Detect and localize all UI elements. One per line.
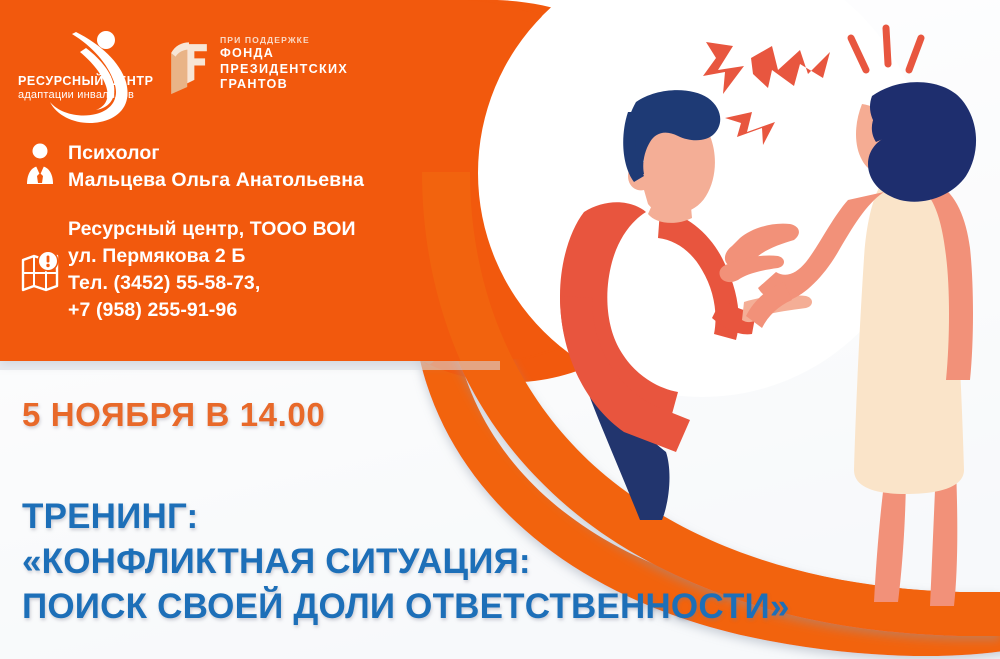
event-title-line2: «КОНФЛИКТНАЯ СИТУАЦИЯ: (22, 539, 790, 584)
psychologist-row: Психолог Мальцева Ольга Анатольевна (20, 140, 490, 194)
man-neck (648, 196, 692, 223)
event-title: ТРЕНИНГ: «КОНФЛИКТНАЯ СИТУАЦИЯ: ПОИСК СВ… (22, 494, 790, 629)
info-panel: РЕСУРСНЫЙ ЦЕНТР адаптации инвалидов ПРИ … (0, 0, 500, 362)
pgf-mark (164, 38, 214, 102)
location-row: Ресурсный центр, ТООО ВОИ ул. Пермякова … (20, 216, 490, 324)
location-line2: ул. Пермякова 2 Б (68, 243, 490, 270)
lightning-bolt-icon (703, 42, 830, 145)
pgf-line1: ФОНДА (220, 46, 348, 62)
psychologist-name: Мальцева Ольга Анатольевна (68, 167, 490, 194)
map-pin-icon (20, 248, 60, 292)
psychologist-role: Психолог (68, 140, 490, 167)
contact-info: Психолог Мальцева Ольга Анатольевна (20, 140, 490, 324)
rc-dot (97, 31, 115, 49)
pgf-line2: ПРЕЗИДЕНТСКИХ (220, 62, 348, 78)
anger-rays-icon (851, 28, 921, 70)
event-date: 5 НОЯБРЯ В 14.00 (22, 396, 325, 434)
rc-logo-line1: РЕСУРСНЫЙ ЦЕНТР (18, 74, 134, 88)
location-line1: Ресурсный центр, ТООО ВОИ (68, 216, 490, 243)
poster-root: РЕСУРСНЫЙ ЦЕНТР адаптации инвалидов ПРИ … (0, 0, 1000, 659)
woman-hair (868, 82, 976, 202)
pgf-line3: ГРАНТОВ (220, 77, 348, 93)
pgf-line0: ПРИ ПОДДЕРЖКЕ (220, 35, 348, 46)
pgf-shape-right (187, 44, 207, 83)
location-lines: Ресурсный центр, ТООО ВОИ ул. Пермякова … (68, 216, 490, 324)
location-line4: +7 (958) 255-91-96 (68, 297, 490, 324)
pgf-logo-text: ПРИ ПОДДЕРЖКЕ ФОНДА ПРЕЗИДЕНТСКИХ ГРАНТО… (220, 35, 348, 93)
logos-row: РЕСУРСНЫЙ ЦЕНТР адаптации инвалидов ПРИ … (14, 22, 484, 130)
person-tie-icon (20, 142, 60, 186)
psychologist-lines: Психолог Мальцева Ольга Анатольевна (68, 140, 490, 194)
resource-center-logo-text: РЕСУРСНЫЙ ЦЕНТР адаптации инвалидов (18, 74, 134, 102)
event-title-line3: ПОИСК СВОЕЙ ДОЛИ ОТВЕТСТВЕННОСТИ» (22, 584, 790, 629)
resource-center-logo: РЕСУРСНЫЙ ЦЕНТР адаптации инвалидов (14, 22, 154, 130)
presidential-grants-fund-logo: ПРИ ПОДДЕРЖКЕ ФОНДА ПРЕЗИДЕНТСКИХ ГРАНТО… (164, 34, 494, 118)
event-title-line1: ТРЕНИНГ: (22, 494, 790, 539)
rc-logo-line2: адаптации инвалидов (18, 89, 134, 102)
location-line3: Тел. (3452) 55-58-73, (68, 270, 490, 297)
